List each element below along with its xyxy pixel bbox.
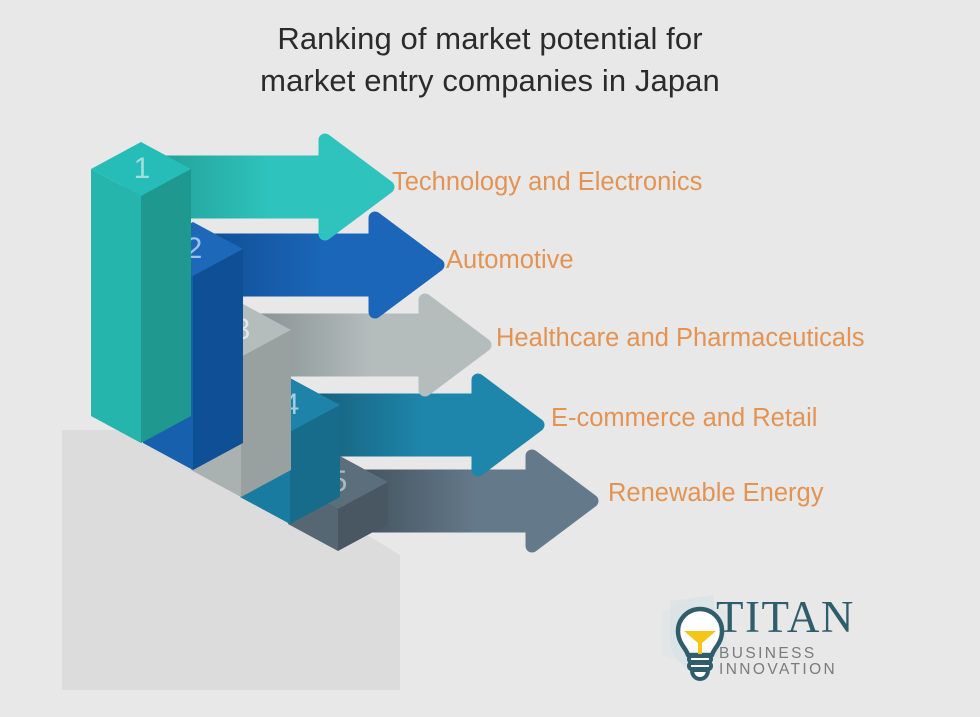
bar-rank-1-left <box>91 169 141 443</box>
logo-brand-text: TITAN <box>716 595 855 640</box>
logo-tagline-text: BUSINESS INNOVATION <box>719 646 920 677</box>
bar-rank-2-right <box>193 249 243 470</box>
category-label-3: Healthcare and Pharmaceuticals <box>496 326 865 352</box>
category-label-1: Technology and Electronics <box>392 170 702 196</box>
bar-rank-3-right <box>241 330 291 497</box>
bar-rank-1-number: 1 <box>134 152 151 185</box>
category-label-4: E-commerce and Retail <box>551 406 817 432</box>
category-label-5: Renewable Energy <box>608 481 823 507</box>
bar-rank-1: 1 <box>91 142 191 443</box>
category-label-2: Automotive <box>446 248 574 274</box>
bar-rank-1-right <box>141 169 191 443</box>
titan-logo: TITAN BUSINESS INNOVATION <box>648 593 920 685</box>
infographic-canvas: Ranking of market potential for market e… <box>0 0 980 717</box>
